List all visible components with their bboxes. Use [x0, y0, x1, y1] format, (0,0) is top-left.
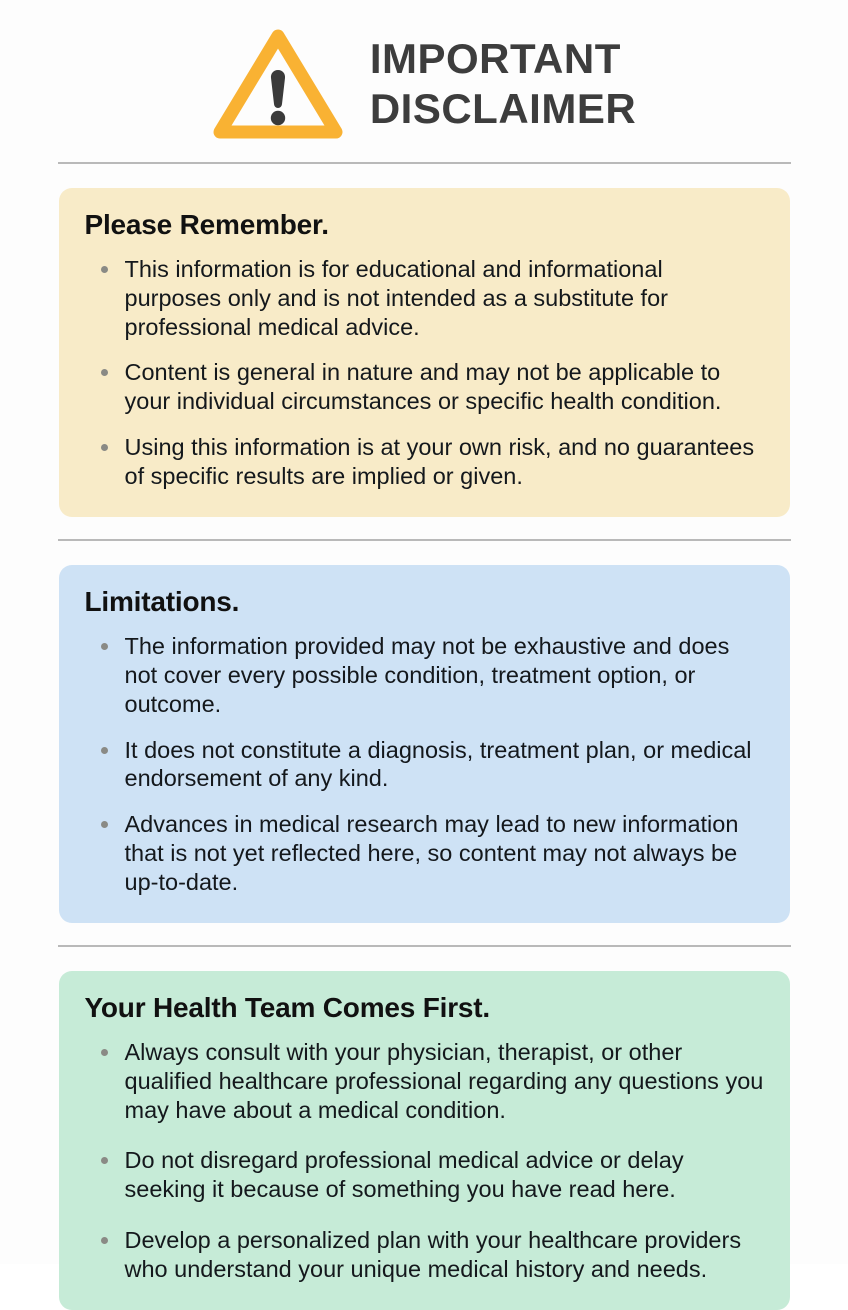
bullet-dot-icon	[101, 369, 108, 376]
list-item: Content is general in nature and may not…	[99, 358, 764, 416]
list-item-text: Do not disregard professional medical ad…	[125, 1147, 684, 1202]
list-item-text: It does not constitute a diagnosis, trea…	[125, 737, 752, 792]
section-health-team: Your Health Team Comes First. Always con…	[59, 971, 790, 1310]
section-please-remember-wrap: Please Remember. This information is for…	[59, 188, 790, 517]
page-title-line-1: IMPORTANT	[370, 34, 636, 84]
page-title: IMPORTANT DISCLAIMER	[370, 34, 636, 133]
list-item-text: Content is general in nature and may not…	[125, 359, 722, 414]
section-limitations: Limitations. The information provided ma…	[59, 565, 790, 923]
list-item-text: The information provided may not be exha…	[125, 633, 730, 717]
section-heading: Limitations.	[85, 587, 764, 618]
spacer	[0, 517, 848, 539]
section-heading: Your Health Team Comes First.	[85, 993, 764, 1024]
bullet-dot-icon	[101, 821, 108, 828]
section-limitations-wrap: Limitations. The information provided ma…	[59, 565, 790, 923]
bullet-dot-icon	[101, 266, 108, 273]
list-item-text: Develop a personalized plan with your he…	[125, 1227, 742, 1282]
section-heading: Please Remember.	[85, 210, 764, 241]
bullet-dot-icon	[101, 643, 108, 650]
bullet-dot-icon	[101, 1237, 108, 1244]
disclaimer-page: IMPORTANT DISCLAIMER Please Remember. Th…	[0, 0, 848, 1264]
list-item-text: Using this information is at your own ri…	[125, 434, 755, 489]
bullet-dot-icon	[101, 1049, 108, 1056]
list-item: Develop a personalized plan with your he…	[99, 1226, 764, 1284]
section-health-team-wrap: Your Health Team Comes First. Always con…	[59, 971, 790, 1310]
bullet-dot-icon	[101, 1157, 108, 1164]
list-item-text: Always consult with your physician, ther…	[125, 1039, 764, 1123]
section-bullet-list: The information provided may not be exha…	[85, 632, 764, 897]
list-item: This information is for educational and …	[99, 255, 764, 342]
list-item: Do not disregard professional medical ad…	[99, 1146, 764, 1204]
bullet-dot-icon	[101, 747, 108, 754]
page-title-line-2: DISCLAIMER	[370, 84, 636, 134]
list-item: Always consult with your physician, ther…	[99, 1038, 764, 1125]
section-bullet-list: Always consult with your physician, ther…	[85, 1038, 764, 1284]
spacer	[0, 923, 848, 945]
list-item: The information provided may not be exha…	[99, 632, 764, 719]
bullet-dot-icon	[101, 444, 108, 451]
warning-triangle-icon	[212, 26, 344, 142]
list-item-text: This information is for educational and …	[125, 256, 668, 340]
list-item: Using this information is at your own ri…	[99, 433, 764, 491]
page-header: IMPORTANT DISCLAIMER	[0, 0, 848, 150]
list-item: It does not constitute a diagnosis, trea…	[99, 736, 764, 794]
spacer	[0, 541, 848, 565]
list-item-text: Advances in medical research may lead to…	[125, 811, 739, 895]
section-please-remember: Please Remember. This information is for…	[59, 188, 790, 517]
spacer	[0, 947, 848, 971]
list-item: Advances in medical research may lead to…	[99, 810, 764, 897]
section-bullet-list: This information is for educational and …	[85, 255, 764, 491]
spacer	[0, 164, 848, 188]
